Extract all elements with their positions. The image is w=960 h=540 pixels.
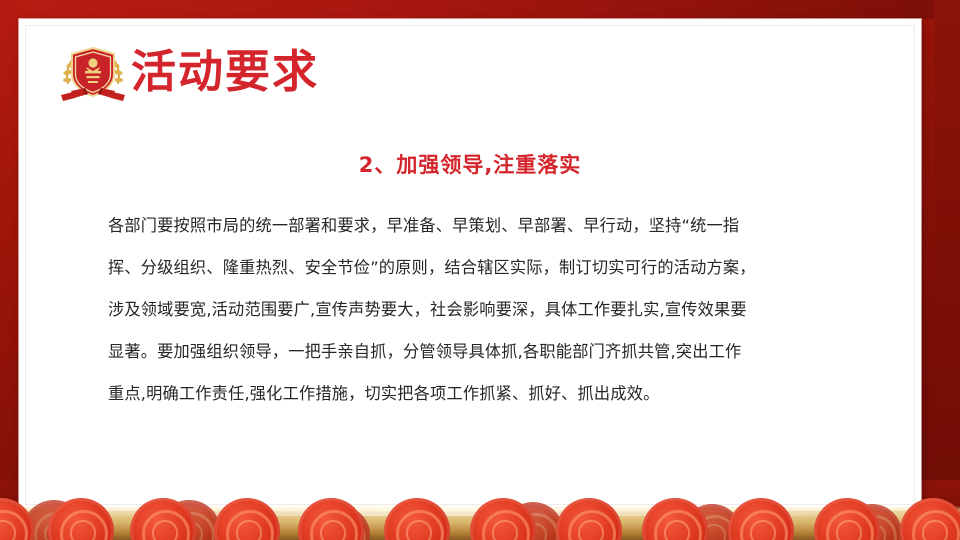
- decor-circle: [214, 498, 280, 540]
- top-border-band: [0, 0, 960, 19]
- section-heading: 2、加强领导,注重落实: [19, 149, 921, 179]
- page-title: 活动要求: [131, 39, 319, 105]
- body-line: 显著。要加强组织领导，一把手亲自抓，分管领导具体抓,各职能部门齐抓共管,突出工作: [108, 331, 832, 373]
- shield-emblem-icon: [55, 41, 131, 107]
- slide-root: 活动要求 2、加强领导,注重落实 各部门要按照市局的统一部署和要求，早准备、早策…: [0, 0, 960, 540]
- slide-header: 活动要求: [19, 19, 921, 129]
- decor-circle: [728, 498, 794, 540]
- decor-circle: [642, 498, 708, 540]
- right-border-band: [934, 0, 960, 540]
- content-card: 活动要求 2、加强领导,注重落实 各部门要按照市局的统一部署和要求，早准备、早策…: [19, 19, 921, 511]
- body-paragraph: 各部门要按照市局的统一部署和要求，早准备、早策划、早部署、早行动，坚持“统一指 …: [108, 205, 832, 415]
- body-line: 重点,明确工作责任,强化工作措施，切实把各项工作抓紧、抓好、抓出成效。: [108, 373, 832, 415]
- slide-body: 2、加强领导,注重落实 各部门要按照市局的统一部署和要求，早准备、早策划、早部署…: [19, 149, 921, 415]
- decor-circle: [900, 498, 960, 540]
- circle-pattern-decoration: [0, 502, 960, 540]
- decor-circle: [556, 498, 622, 540]
- decor-circle: [384, 498, 450, 540]
- left-border-band: [0, 0, 19, 540]
- decor-circle: [298, 498, 364, 540]
- decor-circle: [0, 498, 34, 540]
- body-line: 各部门要按照市局的统一部署和要求，早准备、早策划、早部署、早行动，坚持“统一指: [108, 205, 832, 247]
- body-line: 挥、分级组织、隆重热烈、安全节俭”的原则，结合辖区实际，制订切实可行的活动方案，: [108, 247, 832, 289]
- body-line: 涉及领域要宽,活动范围要广,宣传声势要大，社会影响要深，具体工作要扎实,宣传效果…: [108, 289, 832, 331]
